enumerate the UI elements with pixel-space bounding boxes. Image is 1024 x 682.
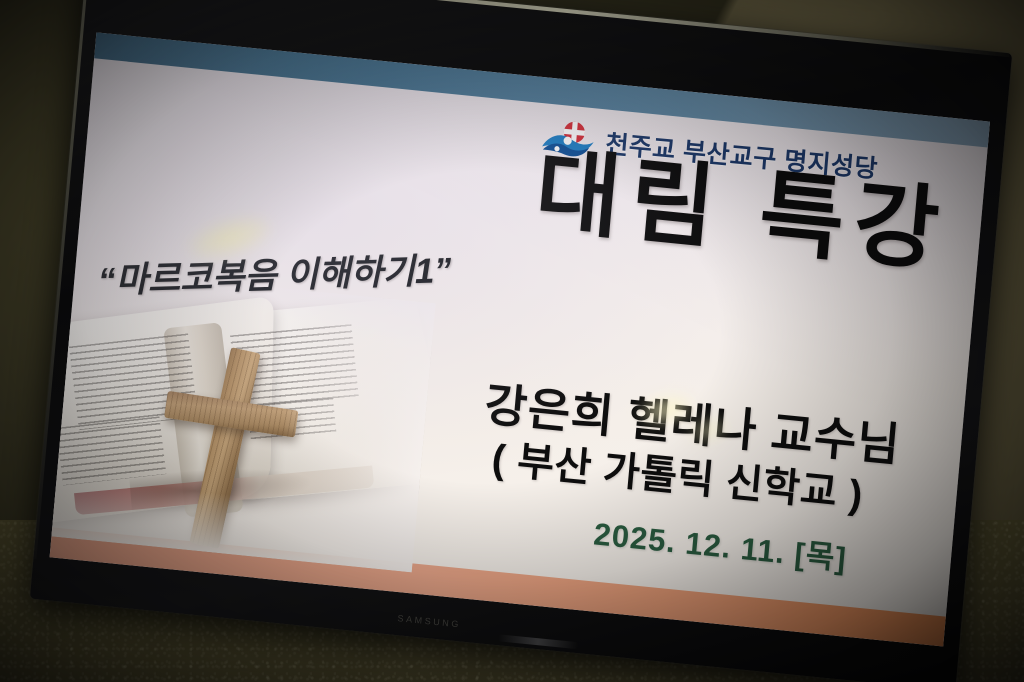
lecture-date-label: 2025. 12. 11. [목]: [592, 508, 849, 578]
room-scene: 천주교 부산교구 명지성당 대림 특강 “마르코복음 이해하기1” 강은희 헬레…: [0, 0, 1024, 682]
slide-subtitle-quote: “마르코복음 이해하기1”: [97, 242, 452, 304]
tv-screen[interactable]: 천주교 부산교구 명지성당 대림 특강 “마르코복음 이해하기1” 강은희 헬레…: [50, 32, 990, 646]
bible-with-wooden-cross-photo: [50, 266, 436, 572]
television[interactable]: 천주교 부산교구 명지성당 대림 특강 “마르코복음 이해하기1” 강은희 헬레…: [30, 0, 1012, 682]
presentation-slide: 천주교 부산교구 명지성당 대림 특강 “마르코복음 이해하기1” 강은희 헬레…: [50, 32, 990, 646]
slide-title: 대림 특강: [532, 145, 952, 278]
photo-edge-fade: [50, 266, 436, 572]
